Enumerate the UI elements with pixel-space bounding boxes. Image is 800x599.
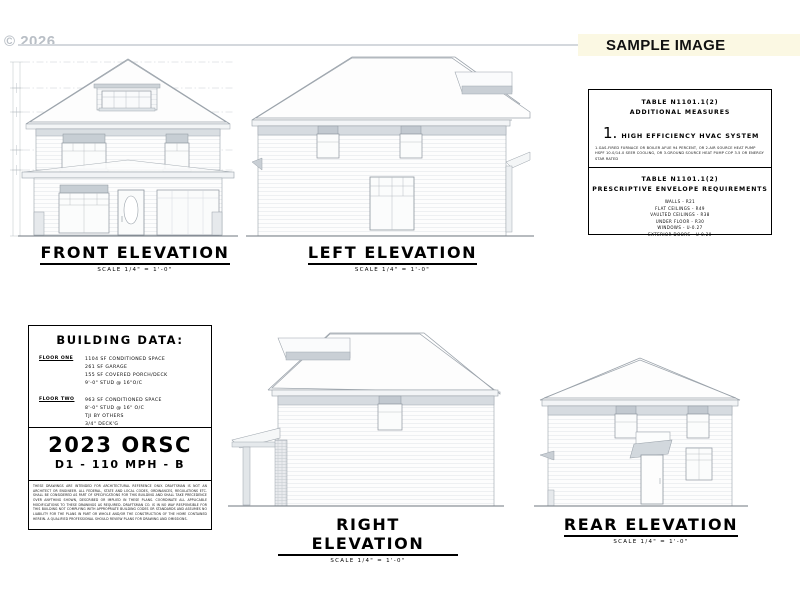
right-elevation-drawing bbox=[228, 333, 504, 506]
floor-one-values: 1104 SF CONDITIONED SPACE 261 SF GARAGE … bbox=[85, 356, 168, 388]
disclaimer-text: THESE DRAWINGS ARE INTENDED FOR ARCHITEC… bbox=[33, 484, 207, 522]
right-elevation-title: RIGHT ELEVATION bbox=[278, 515, 458, 556]
wind-exposure: D1 - 110 MPH - B bbox=[29, 458, 211, 471]
floor-one-label: FLOOR ONE bbox=[39, 356, 85, 388]
table-additional-measures: TABLE N1101.1(2) ADDITIONAL MEASURES 1. … bbox=[588, 89, 772, 169]
envelope-spec: EXTERIOR DOORS - U-0.20 bbox=[589, 232, 771, 238]
floor-two-values: 963 SF CONDITIONED SPACE 8'-0" STUD @ 16… bbox=[85, 397, 162, 429]
building-data-row: FLOOR TWO 963 SF CONDITIONED SPACE 8'-0"… bbox=[39, 397, 211, 429]
floor-one-line: 1104 SF CONDITIONED SPACE bbox=[85, 356, 168, 364]
table-additional-heading-1: TABLE N1101.1(2) bbox=[589, 98, 771, 108]
additional-measure-item: 1. HIGH EFFICIENCY HVAC SYSTEM bbox=[603, 124, 771, 142]
left-elevation-drawing bbox=[246, 57, 534, 236]
table-additional-heading-2: ADDITIONAL MEASURES bbox=[589, 108, 771, 118]
disclaimer-block: THESE DRAWINGS ARE INTENDED FOR ARCHITEC… bbox=[28, 480, 212, 530]
right-elevation-scale: SCALE 1/4" = 1'-0" bbox=[278, 558, 458, 564]
front-elevation-drawing bbox=[10, 59, 238, 236]
front-elevation-caption: FRONT ELEVATION SCALE 1/4" = 1'-0" bbox=[40, 243, 230, 273]
code-block: 2023 ORSC D1 - 110 MPH - B bbox=[28, 427, 212, 482]
measure-label: HIGH EFFICIENCY HVAC SYSTEM bbox=[621, 132, 759, 140]
table-envelope-requirements: TABLE N1101.1(2) PRESCRIPTIVE ENVELOPE R… bbox=[588, 167, 772, 235]
floor-two-line: TJI BY OTHERS bbox=[85, 413, 162, 421]
floor-two-label: FLOOR TWO bbox=[39, 397, 85, 429]
envelope-spec-list: WALLS - R21 FLAT CEILINGS - R49 VAULTED … bbox=[589, 199, 771, 238]
rear-elevation-caption: REAR ELEVATION SCALE 1/4" = 1'-0" bbox=[562, 515, 740, 545]
right-elevation-caption: RIGHT ELEVATION SCALE 1/4" = 1'-0" bbox=[278, 515, 458, 564]
drawing-sheet: SAMPLE IMAGE © 2026 bbox=[0, 0, 800, 599]
building-data-title: BUILDING DATA: bbox=[29, 333, 211, 347]
measure-number: 1. bbox=[603, 124, 617, 142]
left-elevation-caption: LEFT ELEVATION SCALE 1/4" = 1'-0" bbox=[305, 243, 480, 273]
front-elevation-scale: SCALE 1/4" = 1'-0" bbox=[40, 267, 230, 273]
left-elevation-scale: SCALE 1/4" = 1'-0" bbox=[305, 267, 480, 273]
floor-one-line: 261 SF GARAGE bbox=[85, 364, 168, 372]
rear-elevation-title: REAR ELEVATION bbox=[564, 515, 738, 537]
code-version: 2023 ORSC bbox=[29, 433, 211, 457]
table-envelope-heading-2: PRESCRIPTIVE ENVELOPE REQUIREMENTS bbox=[589, 185, 771, 195]
building-data-row: FLOOR ONE 1104 SF CONDITIONED SPACE 261 … bbox=[39, 356, 211, 388]
measure-fine-print: 1.GAS-FIRED FURNACE OR BOILER AFUE 94 PE… bbox=[595, 146, 765, 162]
rear-elevation-drawing bbox=[534, 358, 748, 506]
floor-one-line: 9'-0" STUD @ 16"O/C bbox=[85, 380, 168, 388]
floor-two-line: 8'-0" STUD @ 16" O/C bbox=[85, 405, 162, 413]
left-elevation-title: LEFT ELEVATION bbox=[308, 243, 477, 265]
rear-elevation-scale: SCALE 1/4" = 1'-0" bbox=[562, 539, 740, 545]
table-envelope-heading-1: TABLE N1101.1(2) bbox=[589, 175, 771, 185]
floor-one-line: 155 SF COVERED PORCH/DECK bbox=[85, 372, 168, 380]
building-data-block: BUILDING DATA: FLOOR ONE 1104 SF CONDITI… bbox=[28, 325, 212, 429]
front-elevation-title: FRONT ELEVATION bbox=[40, 243, 229, 265]
floor-two-line: 963 SF CONDITIONED SPACE bbox=[85, 397, 162, 405]
